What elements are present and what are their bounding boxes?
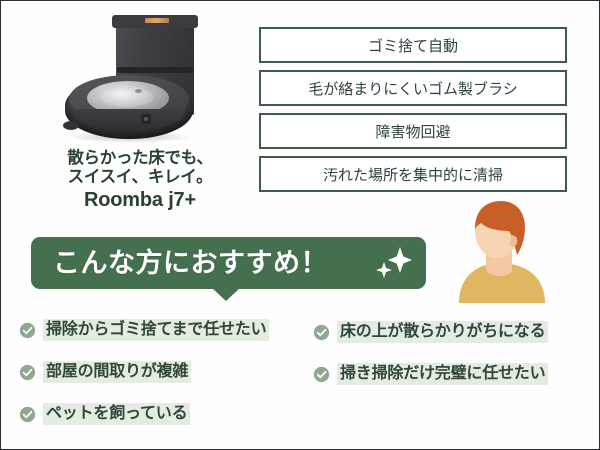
check-circle-icon bbox=[19, 364, 36, 381]
product-title-block: 散らかった床でも、 スイスイ、キレイ。 Roomba j7+ bbox=[55, 149, 225, 213]
person-illustration bbox=[453, 199, 561, 303]
feature-box-3: 障害物回避 bbox=[259, 113, 567, 149]
list-item: 床の上が散らかりがちになる bbox=[313, 321, 548, 343]
list-item: 掃き掃除だけ完璧に任せたい bbox=[313, 363, 548, 385]
tagline-line-2: スイスイ、キレイ。 bbox=[55, 168, 225, 187]
list-item-label: ペットを飼っている bbox=[43, 403, 190, 425]
list-item: ペットを飼っている bbox=[19, 403, 269, 425]
copper-accent-strip bbox=[145, 18, 169, 23]
robot-disc-inner bbox=[101, 87, 153, 107]
list-item-label: 掃除からゴミ捨てまで任せたい bbox=[43, 319, 269, 341]
check-circle-icon bbox=[19, 322, 36, 339]
product-image bbox=[59, 9, 214, 159]
product-model-name: Roomba j7+ bbox=[55, 188, 225, 213]
robot-camera-lens bbox=[144, 117, 148, 121]
feature-box-4: 汚れた場所を集中的に清掃 bbox=[259, 156, 567, 192]
banner-tail bbox=[212, 288, 240, 301]
banner-heading: こんな方におすすめ！ bbox=[53, 244, 328, 282]
check-circle-icon bbox=[313, 324, 330, 341]
ad-canvas: 散らかった床でも、 スイスイ、キレイ。 Roomba j7+ ゴミ捨て自動 毛が… bbox=[0, 0, 600, 450]
recommendation-banner: こんな方におすすめ！ bbox=[31, 237, 426, 289]
check-circle-icon bbox=[313, 366, 330, 383]
check-circle-icon bbox=[19, 406, 36, 423]
list-item-label: 床の上が散らかりがちになる bbox=[337, 321, 548, 343]
sparkles-icon bbox=[373, 245, 419, 283]
feature-box-2: 毛が絡まりにくいゴム製ブラシ bbox=[259, 70, 567, 106]
list-item-label: 掃き掃除だけ完璧に任せたい bbox=[337, 363, 548, 385]
robot-wheel bbox=[63, 121, 79, 130]
list-item: 掃除からゴミ捨てまで任せたい bbox=[19, 319, 269, 341]
tagline-line-1: 散らかった床でも、 bbox=[55, 149, 225, 168]
feature-box-1: ゴミ捨て自動 bbox=[259, 27, 567, 63]
robot-clean-button bbox=[135, 89, 142, 93]
recommendation-list-left: 掃除からゴミ捨てまで任せたい 部屋の間取りが複雑 ペットを飼っている bbox=[19, 319, 269, 445]
recommendation-list-right: 床の上が散らかりがちになる 掃き掃除だけ完璧に任せたい bbox=[313, 321, 548, 405]
feature-list: ゴミ捨て自動 毛が絡まりにくいゴム製ブラシ 障害物回避 汚れた場所を集中的に清掃 bbox=[259, 27, 567, 199]
list-item: 部屋の間取りが複雑 bbox=[19, 361, 269, 383]
list-item-label: 部屋の間取りが複雑 bbox=[43, 361, 191, 383]
clean-base-slot bbox=[117, 67, 193, 73]
